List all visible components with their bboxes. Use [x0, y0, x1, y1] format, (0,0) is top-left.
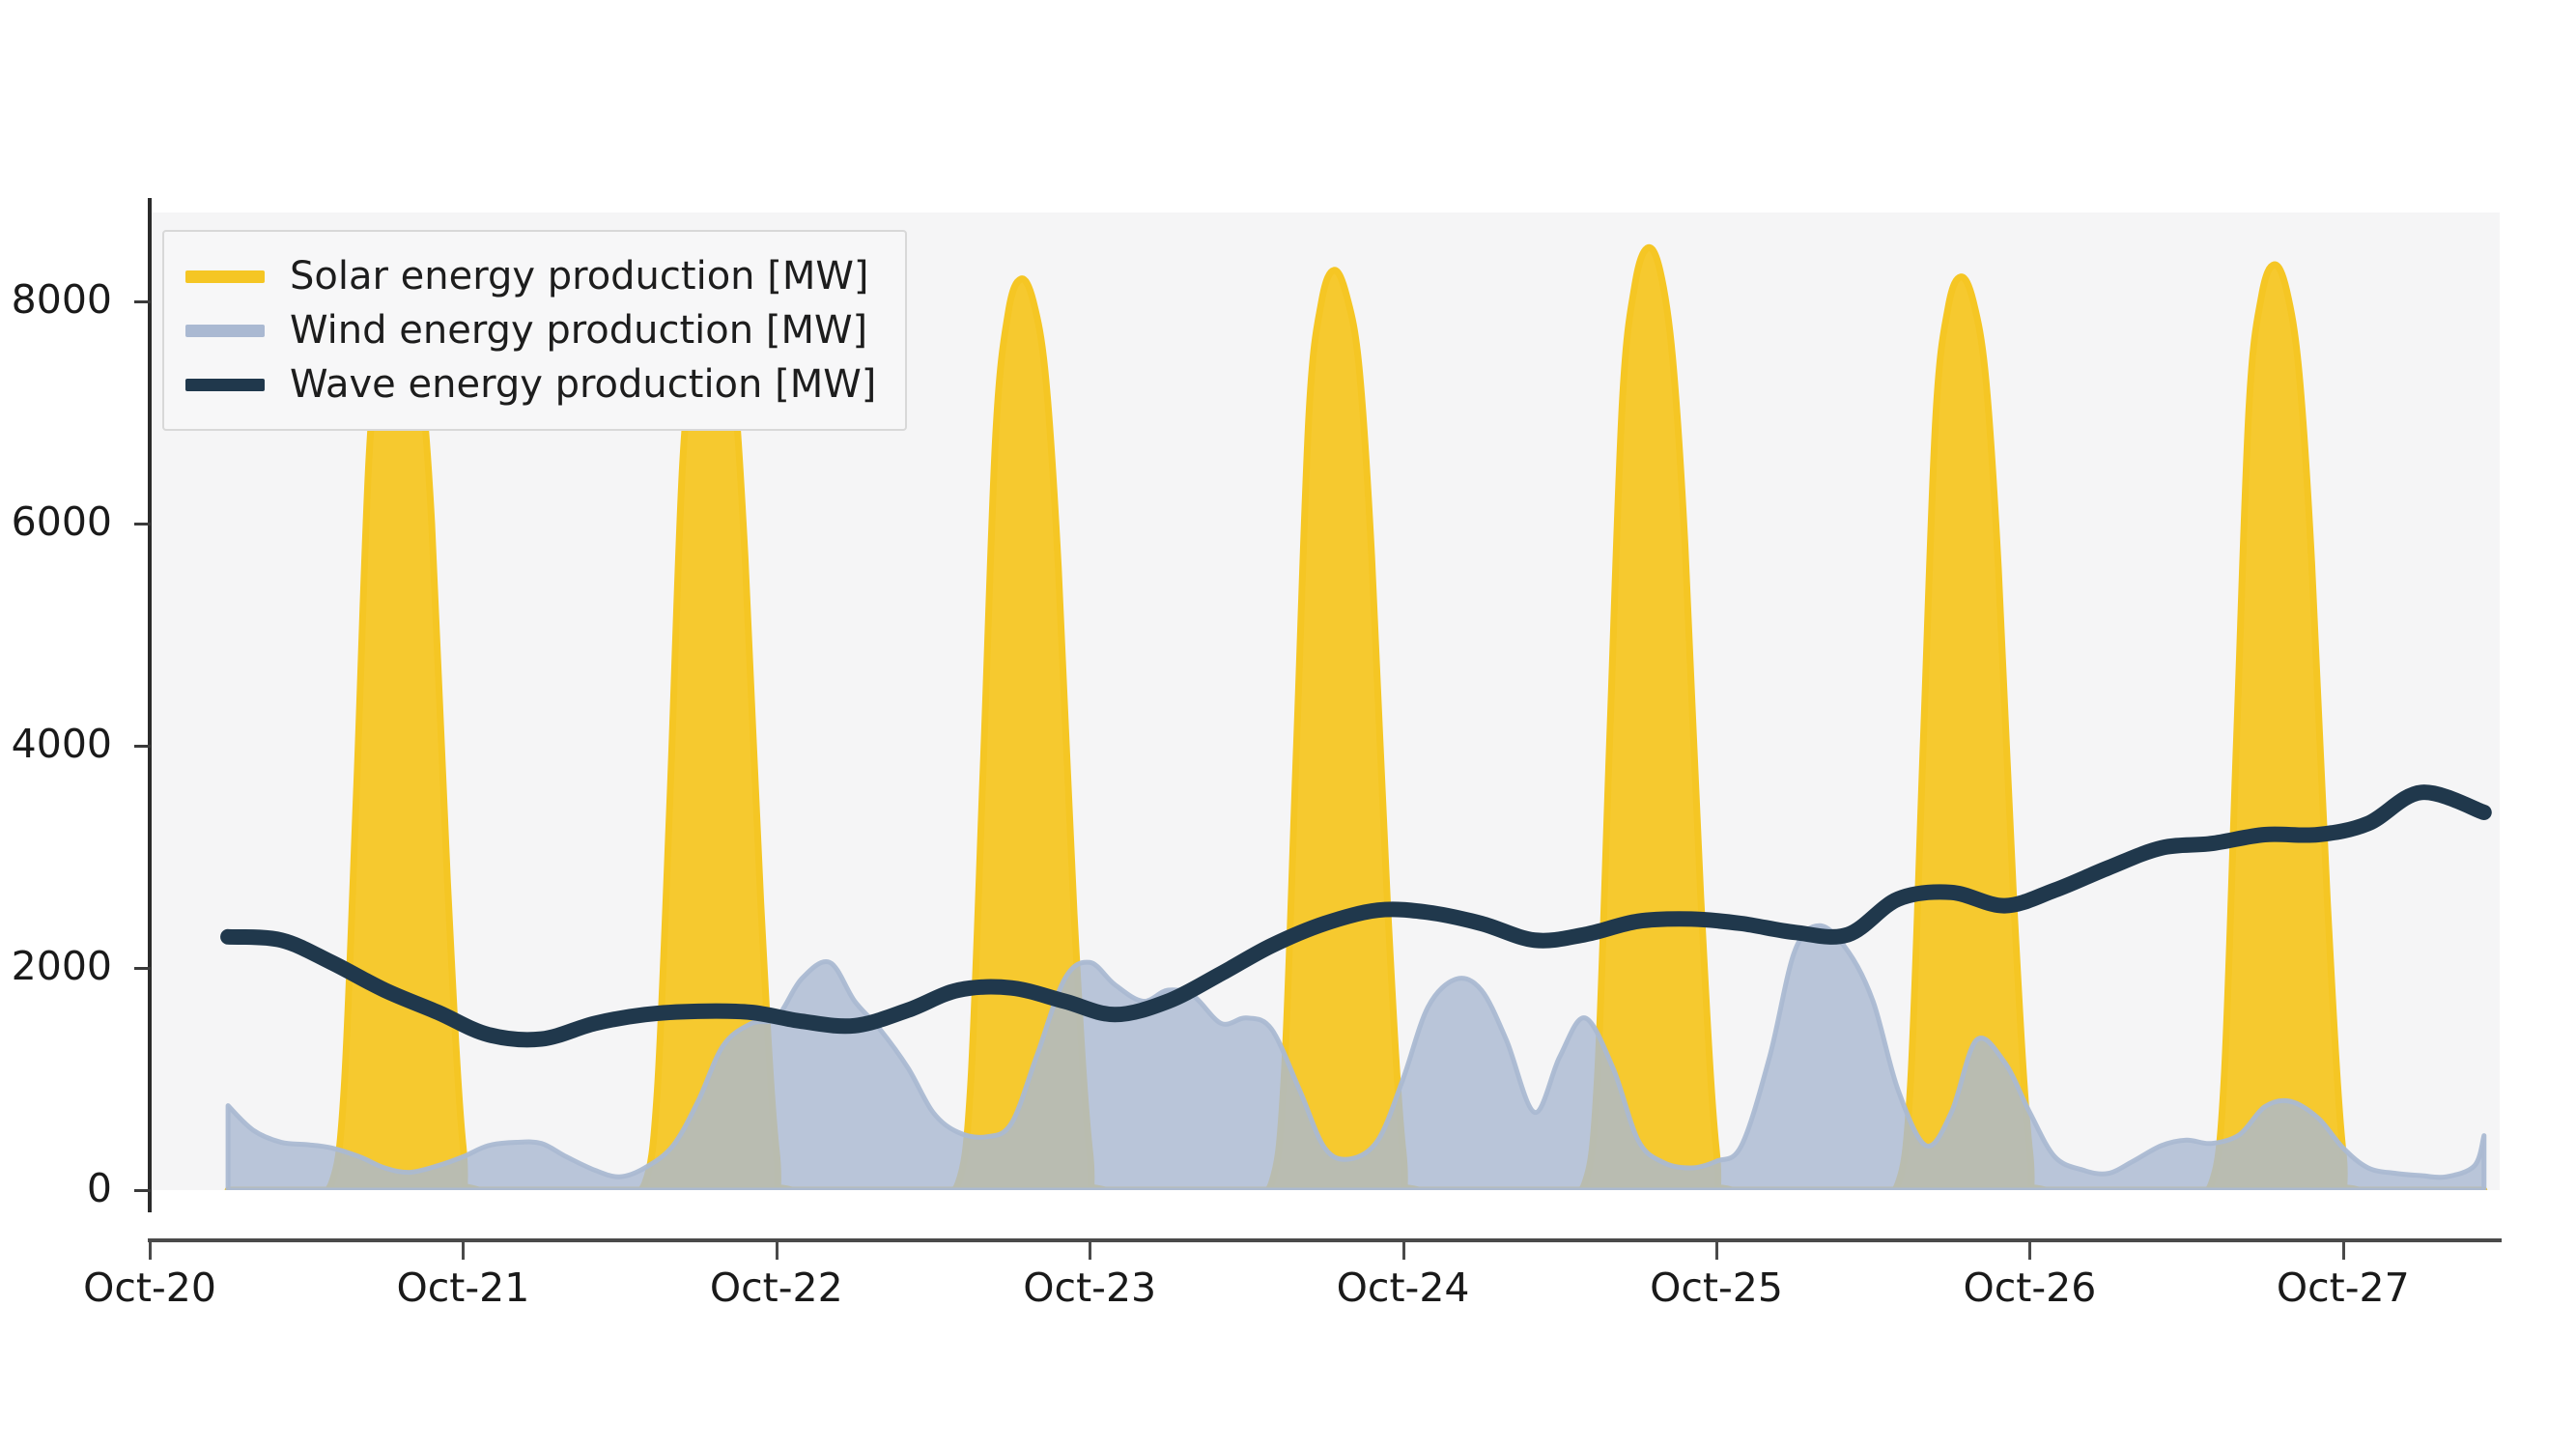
- x-tick-label: Oct-24: [1337, 1268, 1470, 1308]
- x-tick-label: Oct-25: [1650, 1268, 1783, 1308]
- y-tick-label: 0: [0, 1169, 112, 1208]
- y-tick-mark: [134, 300, 151, 303]
- y-axis-spine: [148, 198, 152, 1212]
- legend-swatch-wave: [185, 379, 265, 391]
- x-tick-mark: [1402, 1242, 1405, 1260]
- chart-figure: 02000400060008000 Oct-20Oct-21Oct-22Oct-…: [0, 0, 2576, 1449]
- x-axis-spine: [148, 1238, 2502, 1242]
- y-tick-mark: [134, 1189, 151, 1192]
- x-tick-mark: [1715, 1242, 1718, 1260]
- legend-item-solar[interactable]: Solar energy production [MW]: [185, 249, 876, 303]
- y-tick-label: 6000: [0, 502, 112, 542]
- legend-swatch-wind: [185, 325, 265, 337]
- x-tick-label: Oct-21: [396, 1268, 529, 1308]
- legend-item-wind[interactable]: Wind energy production [MW]: [185, 303, 876, 357]
- y-tick-label: 2000: [0, 947, 112, 986]
- x-tick-mark: [462, 1242, 465, 1260]
- x-tick-mark: [149, 1242, 152, 1260]
- x-tick-mark: [2028, 1242, 2031, 1260]
- chart-legend: Solar energy production [MW] Wind energy…: [162, 230, 907, 431]
- x-tick-label: Oct-27: [2277, 1268, 2410, 1308]
- legend-label-wave: Wave energy production [MW]: [290, 365, 876, 404]
- x-tick-label: Oct-22: [710, 1268, 843, 1308]
- y-tick-mark: [134, 967, 151, 970]
- x-tick-label: Oct-23: [1023, 1268, 1156, 1308]
- y-tick-label: 4000: [0, 724, 112, 764]
- x-tick-mark: [776, 1242, 778, 1260]
- legend-swatch-solar: [185, 270, 265, 283]
- legend-label-solar: Solar energy production [MW]: [290, 257, 869, 296]
- x-tick-label: Oct-26: [1963, 1268, 2096, 1308]
- legend-item-wave[interactable]: Wave energy production [MW]: [185, 357, 876, 412]
- x-tick-label: Oct-20: [83, 1268, 216, 1308]
- x-tick-mark: [1089, 1242, 1091, 1260]
- x-tick-mark: [2342, 1242, 2345, 1260]
- y-tick-label: 8000: [0, 280, 112, 320]
- y-tick-mark: [134, 523, 151, 526]
- legend-label-wind: Wind energy production [MW]: [290, 311, 867, 350]
- y-tick-mark: [134, 745, 151, 748]
